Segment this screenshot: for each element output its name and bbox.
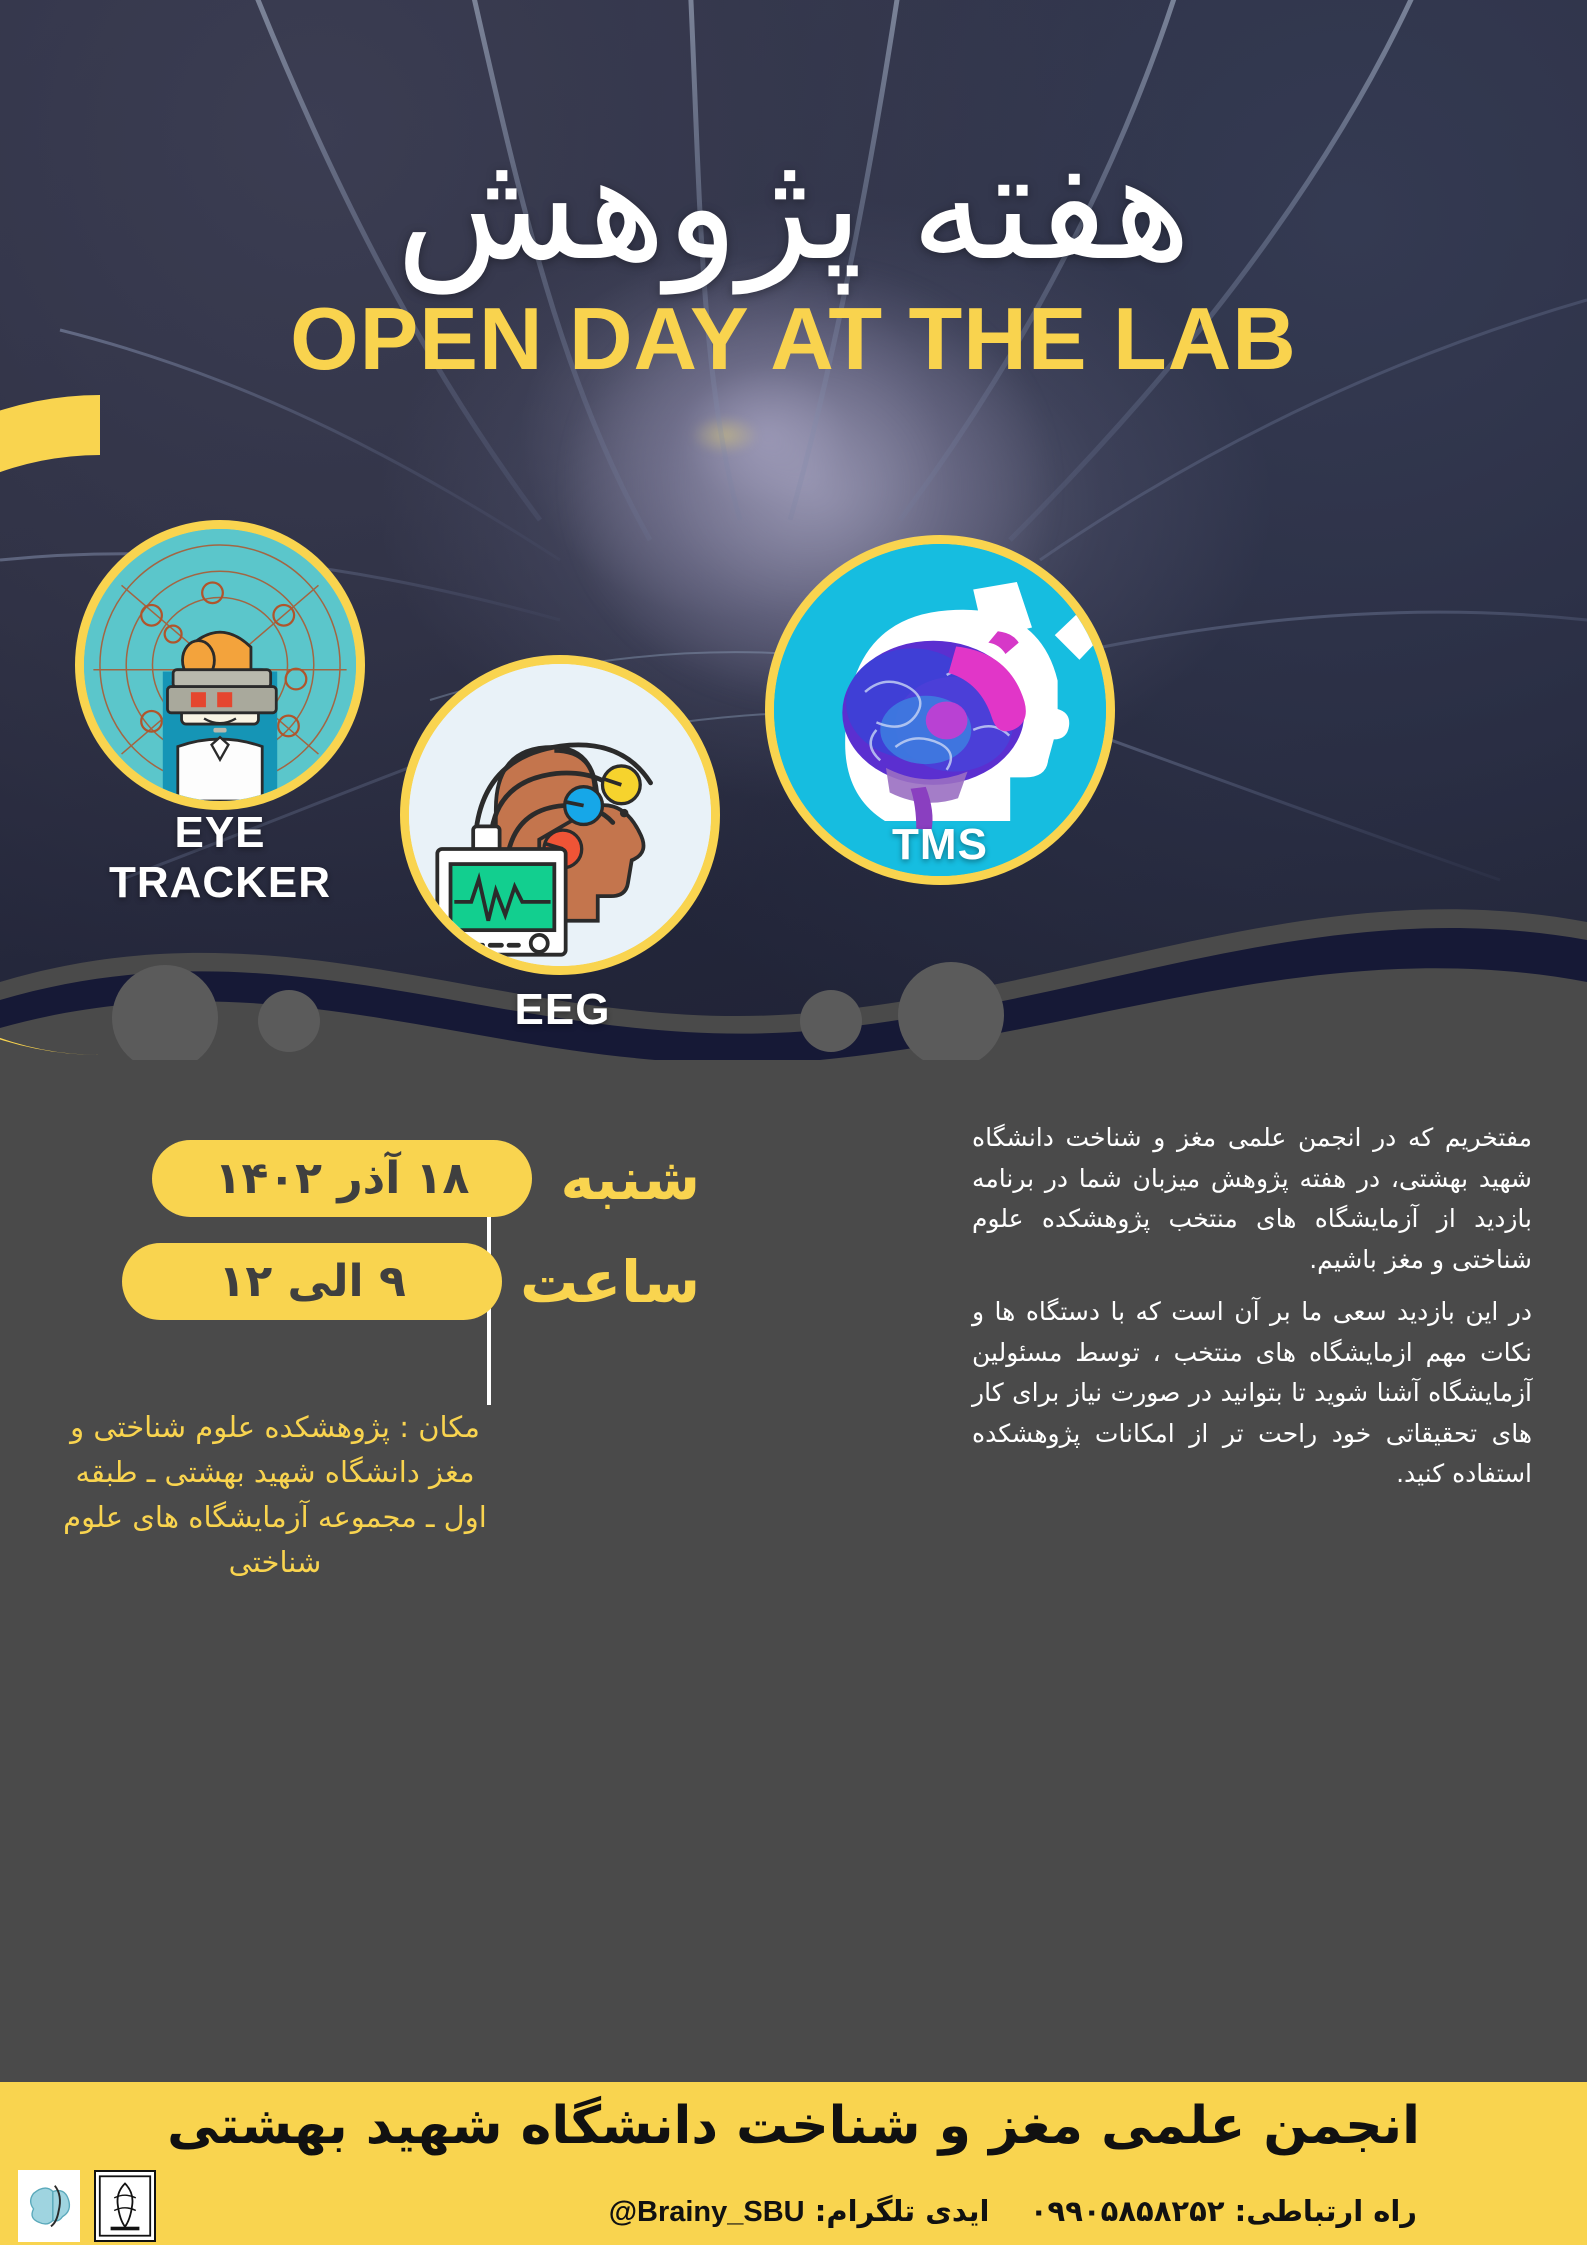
bokeh-circle-1 (112, 965, 218, 1071)
bokeh-circle-3 (800, 990, 862, 1052)
time-pill: ۹ الی ۱۲ (122, 1243, 502, 1320)
time-label: ساعت (520, 1248, 700, 1316)
description-paragraph-2: در این بازدید سعی ما بر آن است که با دست… (972, 1292, 1532, 1495)
schedule-row-time: ساعت ۹ الی ۱۲ (60, 1243, 700, 1320)
organization-name: انجمن علمی مغز و شناخت دانشگاه شهید بهشت… (0, 2096, 1587, 2156)
eye-tracker-icon (84, 529, 356, 801)
date-pill: ۱۸ آذر ۱۴۰۲ (152, 1140, 532, 1217)
bokeh-circle-2 (258, 990, 320, 1052)
contact-phone: ۰۹۹۰۵۸۵۸۲۵۲ (1030, 2194, 1225, 2228)
lab-circle-eye-tracker[interactable] (75, 520, 365, 810)
poster-root: هفته پژوهش OPEN DAY AT THE LAB (0, 0, 1587, 2245)
page-title-persian: هفته پژوهش (0, 129, 1587, 287)
lab-circle-eeg[interactable] (400, 655, 720, 975)
lab-caption-eye-tracker: EYE TRACKER (70, 808, 370, 908)
location-text: مکان : پژوهشکده علوم شناختی و مغز دانشگا… (60, 1405, 490, 1585)
page-title-english: OPEN DAY AT THE LAB (0, 288, 1587, 390)
contact-label: راه ارتباطی: (1235, 2194, 1417, 2228)
day-label: شنبه (550, 1145, 700, 1213)
university-logo-icon (94, 2170, 156, 2242)
association-logo-icon (18, 2170, 80, 2242)
telegram-label: ایدی تلگرام: (815, 2194, 990, 2228)
eeg-icon (409, 664, 711, 966)
schedule-row-date: شنبه ۱۸ آذر ۱۴۰۲ (60, 1140, 700, 1217)
lab-caption-tms: TMS (790, 820, 1090, 870)
contact-line: راه ارتباطی: ۰۹۹۰۵۸۵۸۲۵۲ ایدی تلگرام: @B… (609, 2194, 1417, 2229)
schedule-block: شنبه ۱۸ آذر ۱۴۰۲ ساعت ۹ الی ۱۲ (60, 1140, 700, 1346)
lab-caption-eeg: EEG (420, 985, 705, 1035)
telegram-handle[interactable]: @Brainy_SBU (609, 2196, 805, 2229)
brain-logo-glyph (20, 2172, 78, 2240)
sbu-logo-glyph (98, 2174, 152, 2238)
footer-bar: انجمن علمی مغز و شناخت دانشگاه شهید بهشت… (0, 2082, 1587, 2245)
footer-logos (18, 2170, 156, 2242)
description-paragraph-1: مفتخریم که در انجمن علمی مغز و شناخت دان… (972, 1118, 1532, 1280)
bokeh-circle-4 (898, 962, 1004, 1068)
description-block: مفتخریم که در انجمن علمی مغز و شناخت دان… (972, 1118, 1532, 1507)
